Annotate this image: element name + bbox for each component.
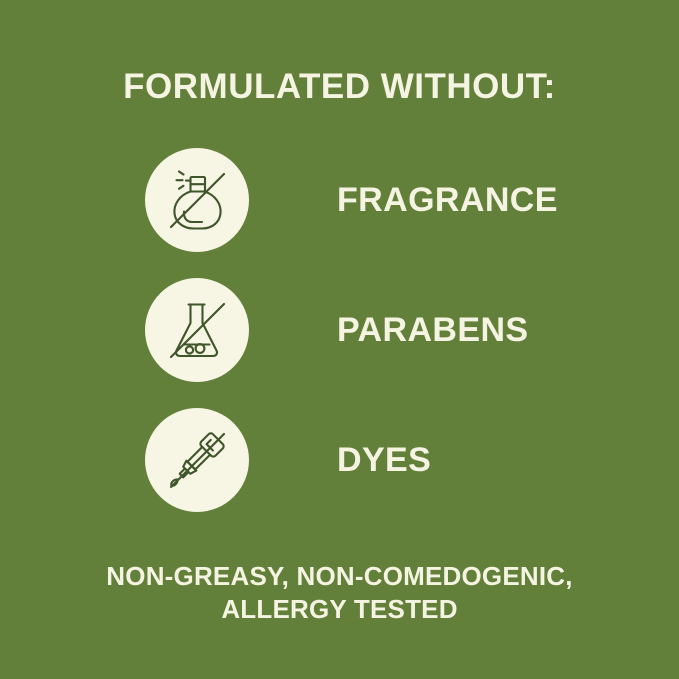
icon-badge — [145, 278, 249, 382]
slash-line — [171, 434, 224, 487]
icon-badge — [145, 408, 249, 512]
formulated-without-panel: FORMULATED WITHOUT: — [0, 0, 679, 679]
excluded-ingredients-list: FRAGRANCE — [145, 148, 558, 538]
list-item-label: DYES — [337, 443, 431, 477]
list-item: PARABENS — [145, 278, 558, 382]
icon-badge — [145, 148, 249, 252]
no-dropper-icon — [145, 408, 249, 512]
no-perfume-bottle-icon — [145, 148, 249, 252]
no-flask-icon — [145, 278, 249, 382]
footer-line-2: ALLERGY TESTED — [0, 593, 679, 626]
list-item-label: FRAGRANCE — [337, 183, 558, 217]
footer-line-1: NON-GREASY, NON-COMEDOGENIC, — [0, 560, 679, 593]
page-title: FORMULATED WITHOUT: — [0, 69, 679, 104]
footer-claims: NON-GREASY, NON-COMEDOGENIC, ALLERGY TES… — [0, 560, 679, 625]
list-item: DYES — [145, 408, 558, 512]
list-item: FRAGRANCE — [145, 148, 558, 252]
list-item-label: PARABENS — [337, 313, 528, 347]
